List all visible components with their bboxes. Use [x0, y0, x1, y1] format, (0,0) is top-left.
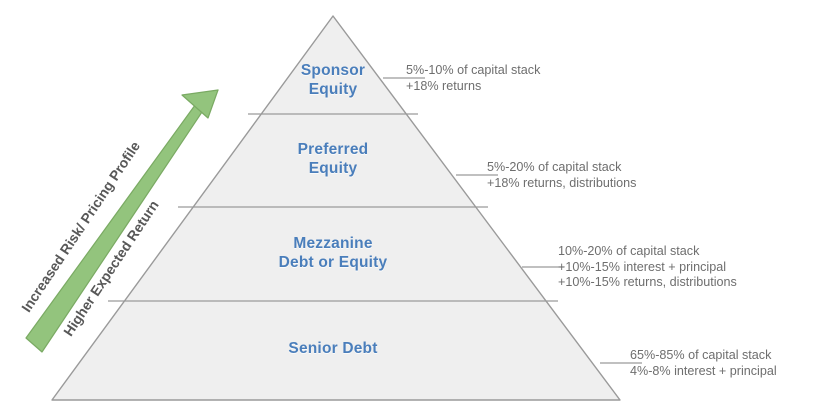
tier-label-mezzanine: Mezzanine Debt or Equity — [253, 234, 413, 272]
annotation-preferred-equity: 5%-20% of capital stack +18% returns, di… — [487, 160, 636, 191]
annotation-line: 5%-10% of capital stack — [406, 63, 540, 79]
annotation-senior-debt: 65%-85% of capital stack 4%-8% interest … — [630, 348, 777, 379]
annotation-line: 10%-20% of capital stack — [558, 244, 737, 260]
annotation-sponsor-equity: 5%-10% of capital stack +18% returns — [406, 63, 540, 94]
annotation-line: +18% returns, distributions — [487, 176, 636, 192]
tier-label-line: Senior Debt — [263, 339, 403, 358]
tier-label-line: Debt or Equity — [253, 253, 413, 272]
annotation-mezzanine: 10%-20% of capital stack +10%-15% intere… — [558, 244, 737, 291]
annotation-line: +18% returns — [406, 79, 540, 95]
tier-label-line: Equity — [268, 80, 398, 99]
tier-label-line: Mezzanine — [253, 234, 413, 253]
tier-label-sponsor-equity: Sponsor Equity — [268, 61, 398, 99]
annotation-line: 5%-20% of capital stack — [487, 160, 636, 176]
annotation-line: +10%-15% returns, distributions — [558, 275, 737, 291]
tier-label-line: Preferred — [268, 140, 398, 159]
tier-label-line: Sponsor — [268, 61, 398, 80]
annotation-line: 65%-85% of capital stack — [630, 348, 777, 364]
capital-stack-pyramid-diagram: Increased Risk/ Pricing Profile Higher E… — [0, 0, 839, 420]
tier-label-senior-debt: Senior Debt — [263, 339, 403, 358]
tier-label-line: Equity — [268, 159, 398, 178]
tier-label-preferred-equity: Preferred Equity — [268, 140, 398, 178]
annotation-line: +10%-15% interest + principal — [558, 260, 737, 276]
annotation-line: 4%-8% interest + principal — [630, 364, 777, 380]
